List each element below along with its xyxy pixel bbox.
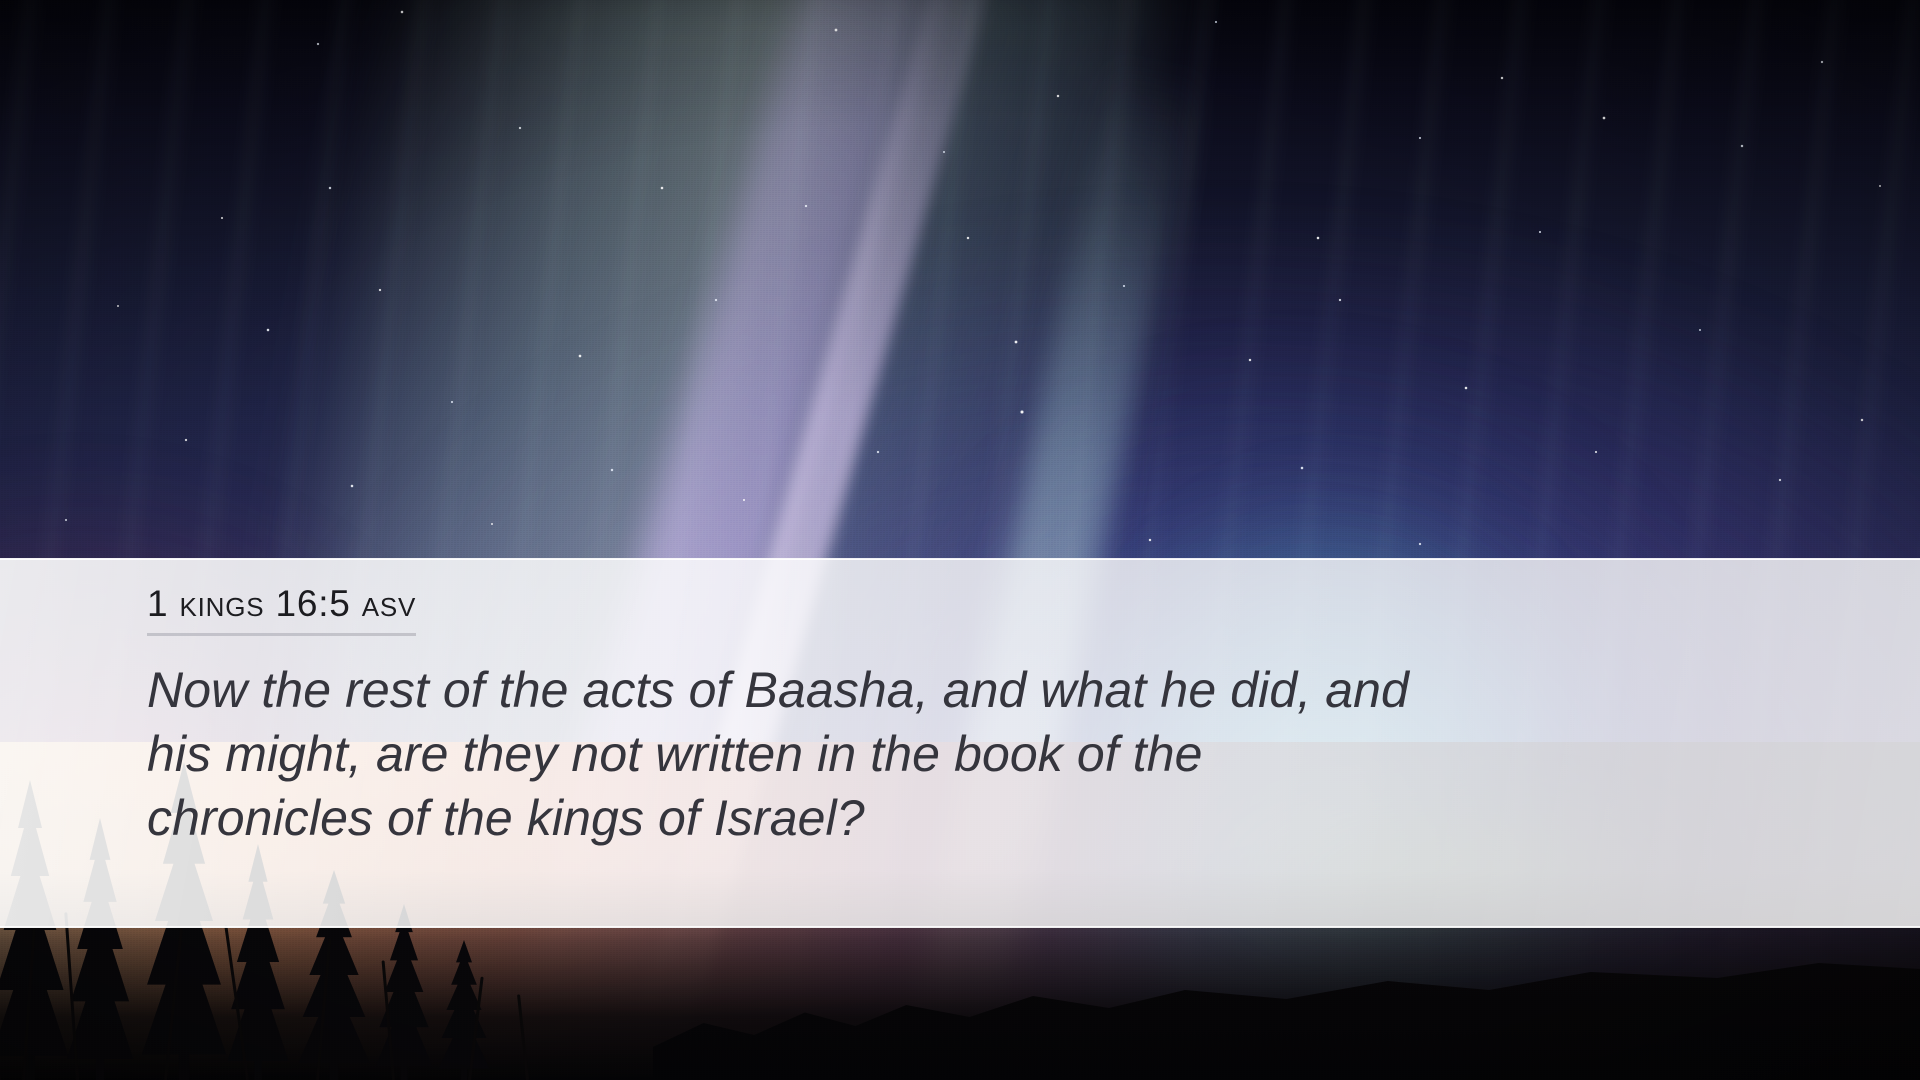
wallpaper-canvas: 1 Kings 16:5 ASV Now the rest of the act…	[0, 0, 1920, 1080]
verse-overlay-band: 1 Kings 16:5 ASV Now the rest of the act…	[0, 558, 1920, 928]
verse-text: Now the rest of the acts of Baasha, and …	[147, 658, 1437, 850]
verse-content: 1 Kings 16:5 ASV Now the rest of the act…	[147, 585, 1800, 850]
verse-reference: 1 Kings 16:5 ASV	[147, 585, 416, 636]
